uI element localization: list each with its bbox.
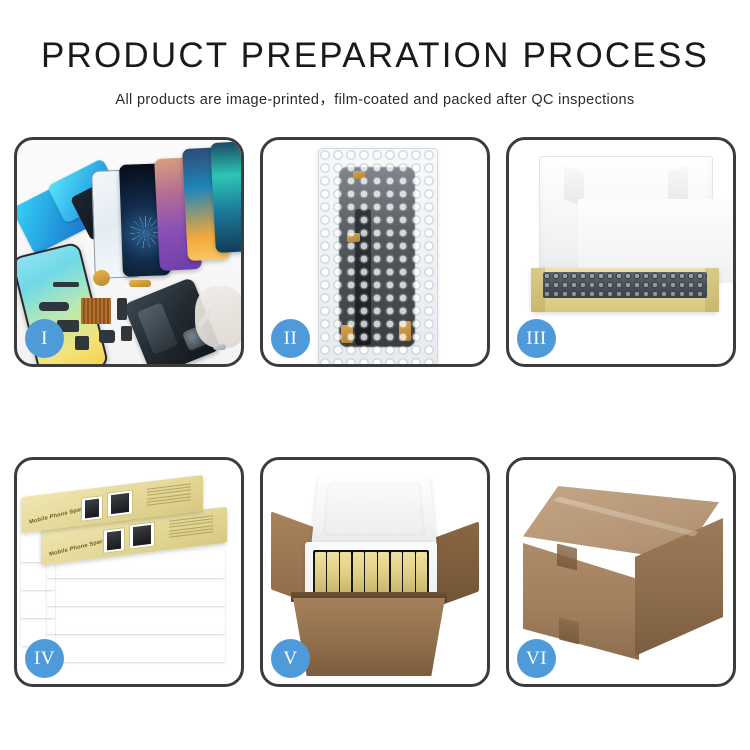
button-part-icon [75,336,89,350]
box-window-left-2 [103,527,125,554]
speaker-part-icon [93,270,110,286]
phone-screen-teal-icon [210,141,241,253]
step-card-2: II [260,137,490,367]
step-badge-1: I [25,319,64,358]
carton-tape-lower-icon [559,618,579,645]
box-spec-lines-2 [169,515,213,540]
page-subtitle: All products are image-printed，film-coat… [0,88,750,109]
step-badge-4: IV [25,639,64,678]
antenna-strip-part-icon [53,282,79,287]
bubble-bag-icon [318,148,438,364]
flex-cable-part-icon [39,302,69,311]
hand-icon [195,286,241,348]
step-card-4: Mobile Phone Spare Parts Mobile Phone Sp… [14,457,244,687]
kraft-inner-box-icon [531,268,719,312]
step-badge-2: II [271,319,310,358]
wrapped-part-icon [339,167,415,347]
box-window-left-1 [81,495,103,522]
foam-lid-icon [539,156,713,276]
camera-part-icon [117,298,127,320]
foam-box-lid-icon [311,475,437,548]
tape-tab-top-icon [353,171,365,179]
tape-tab-lower-left-icon [341,325,353,343]
screw-set-part-icon [121,326,132,341]
tape-tab-mid-icon [347,233,360,242]
step-card-3: III [506,137,736,367]
step-card-1: I [14,137,244,367]
kraft-box-row-6 [47,632,225,662]
kraft-box-left-2 [21,560,55,590]
tape-tab-lower-right-icon [399,321,411,341]
step-card-5: V [260,457,490,687]
chip-grid-part-icon [81,298,111,324]
kraft-box-row-5 [47,604,225,634]
bubble-wrap-contents-icon [543,272,707,298]
product-preparation-infographic: PRODUCT PREPARATION PROCESS All products… [0,0,750,750]
step-badge-5: V [271,639,310,678]
box-window-right-2 [129,521,155,549]
box-lip-right-icon [705,268,719,312]
step-card-6: VI [506,457,736,687]
kraft-box-left-3 [21,588,55,618]
flex-cable-icon [355,209,371,345]
kraft-boxes-inside-icon [313,550,429,594]
box-window-right-1 [107,489,133,517]
step-badge-3: III [517,319,556,358]
small-screw-part-icon [213,344,226,350]
connector-part-icon [129,280,151,287]
step-badge-6: VI [517,639,556,678]
carton-tape-upper-icon [557,544,577,571]
page-title: PRODUCT PREPARATION PROCESS [0,38,750,73]
vibrator-part-icon [99,330,115,343]
kraft-box-row-4 [47,576,225,606]
carton-body-icon [293,598,445,676]
header: PRODUCT PREPARATION PROCESS All products… [0,0,750,109]
box-spec-lines-1 [147,483,191,508]
process-step-grid: I II [14,137,736,687]
